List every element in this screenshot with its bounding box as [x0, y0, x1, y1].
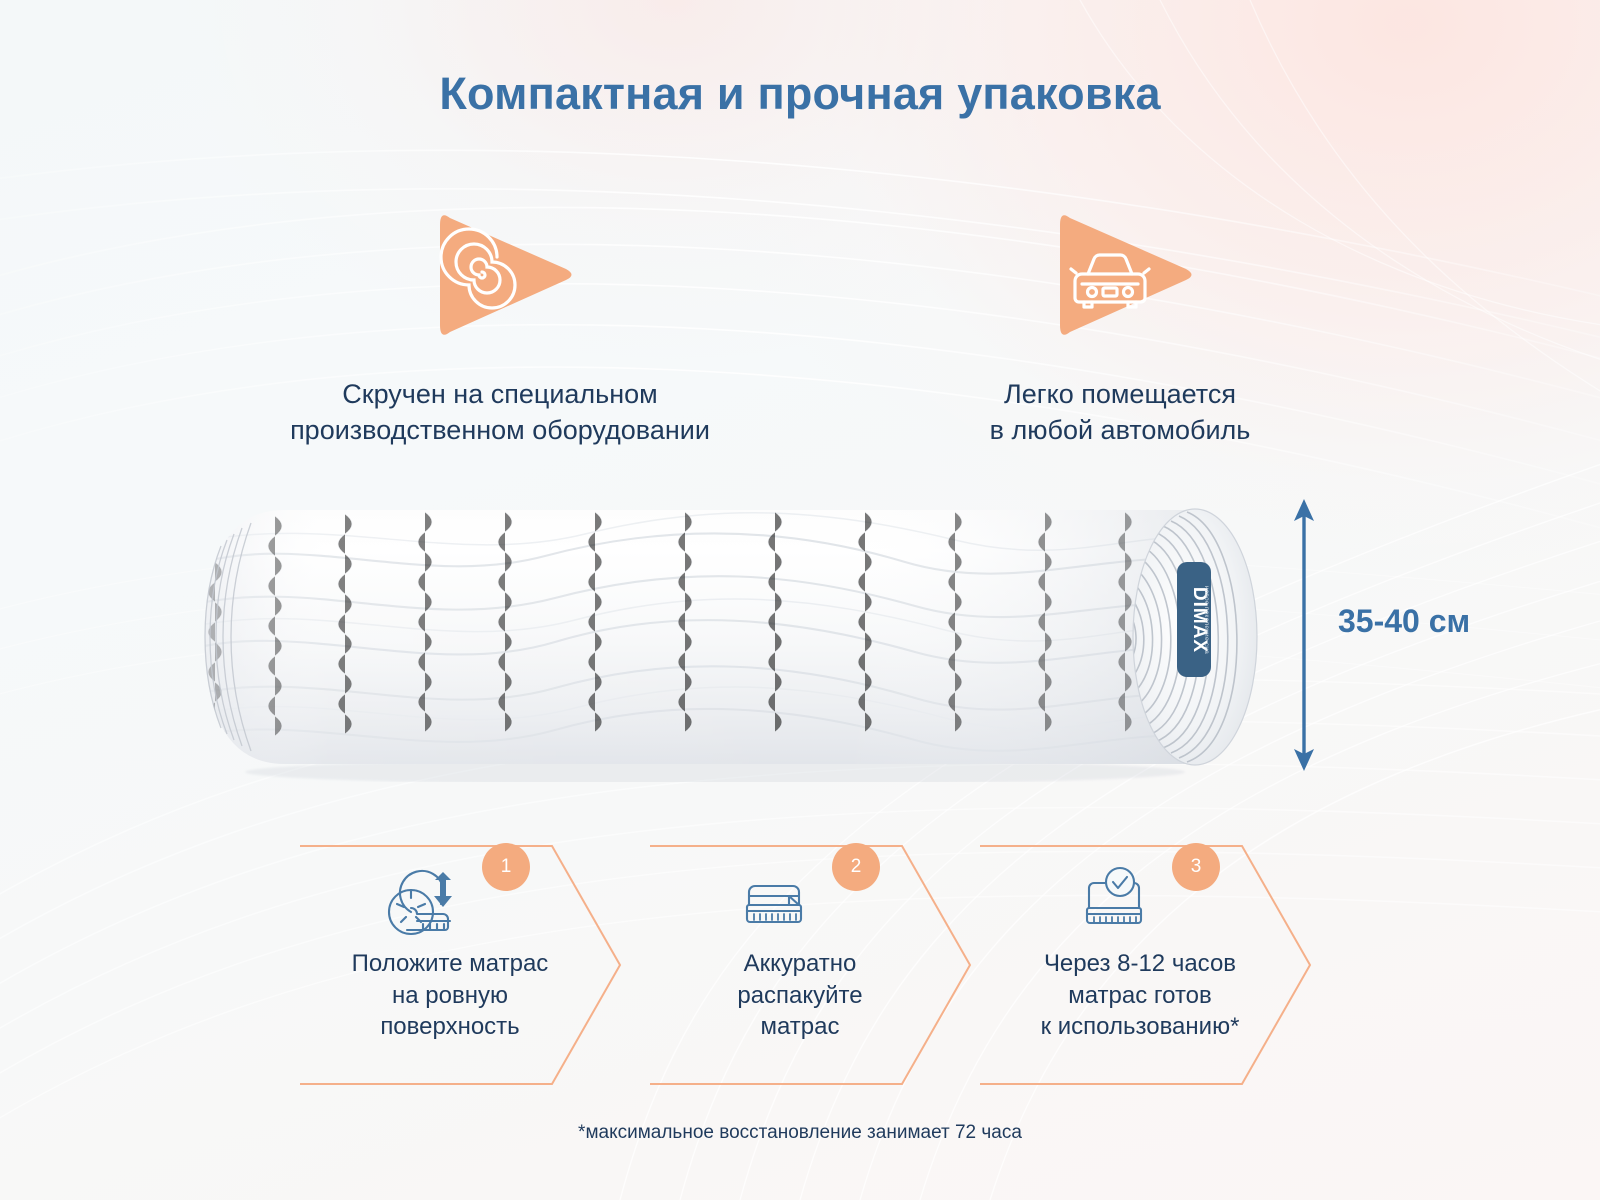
- page-title: Компактная и прочная упаковка: [0, 68, 1600, 120]
- step-badge-3: 3: [1172, 843, 1220, 891]
- step-1: 1 Положи: [290, 840, 650, 1090]
- feature-triangle-car: [1040, 200, 1200, 350]
- step-text-2: Аккуратно распакуйте матрас: [650, 948, 950, 1043]
- step-2: 2: [640, 840, 1000, 1090]
- footnote-text: *максимальное восстановление занимает 72…: [0, 1122, 1600, 1144]
- step-text-1: Положите матрас на ровную поверхность: [300, 948, 600, 1043]
- feature-block-car: Легко помещается в любой автомобиль: [820, 200, 1420, 448]
- feature-triangle-rolling: [420, 200, 580, 350]
- step-badge-2: 2: [832, 843, 880, 891]
- feature-caption-car: Легко помещается в любой автомобиль: [820, 376, 1420, 448]
- svg-text:новое поколение сна: новое поколение сна: [1203, 586, 1210, 654]
- feature-block-rolling: Скручен на специальном производственном …: [200, 200, 800, 448]
- steps-row: 1 Положи: [290, 840, 1300, 1100]
- rolled-mattress-image: DIMAX новое поколение сна: [175, 492, 1285, 782]
- dimension-indicator: 35-40 см: [1286, 495, 1586, 775]
- car-icon: [1040, 200, 1200, 350]
- dimax-brand-tag: DIMAX новое поколение сна: [1177, 562, 1211, 677]
- spiral-roll-icon: [420, 200, 580, 350]
- infographic-canvas: Компактная и прочная упаковка Скручен на…: [0, 0, 1600, 1200]
- dimension-label: 35-40 см: [1338, 603, 1470, 640]
- mattress-ready-check-icon: [1075, 862, 1153, 936]
- feature-caption-rolling: Скручен на специальном производственном …: [200, 376, 800, 448]
- rolled-mattress-place-icon: [385, 862, 463, 936]
- unpack-mattress-icon: [735, 862, 813, 936]
- step-badge-1: 1: [482, 843, 530, 891]
- step-3: 3: [980, 840, 1340, 1090]
- step-text-3: Через 8-12 часов матрас готов к использо…: [990, 948, 1290, 1043]
